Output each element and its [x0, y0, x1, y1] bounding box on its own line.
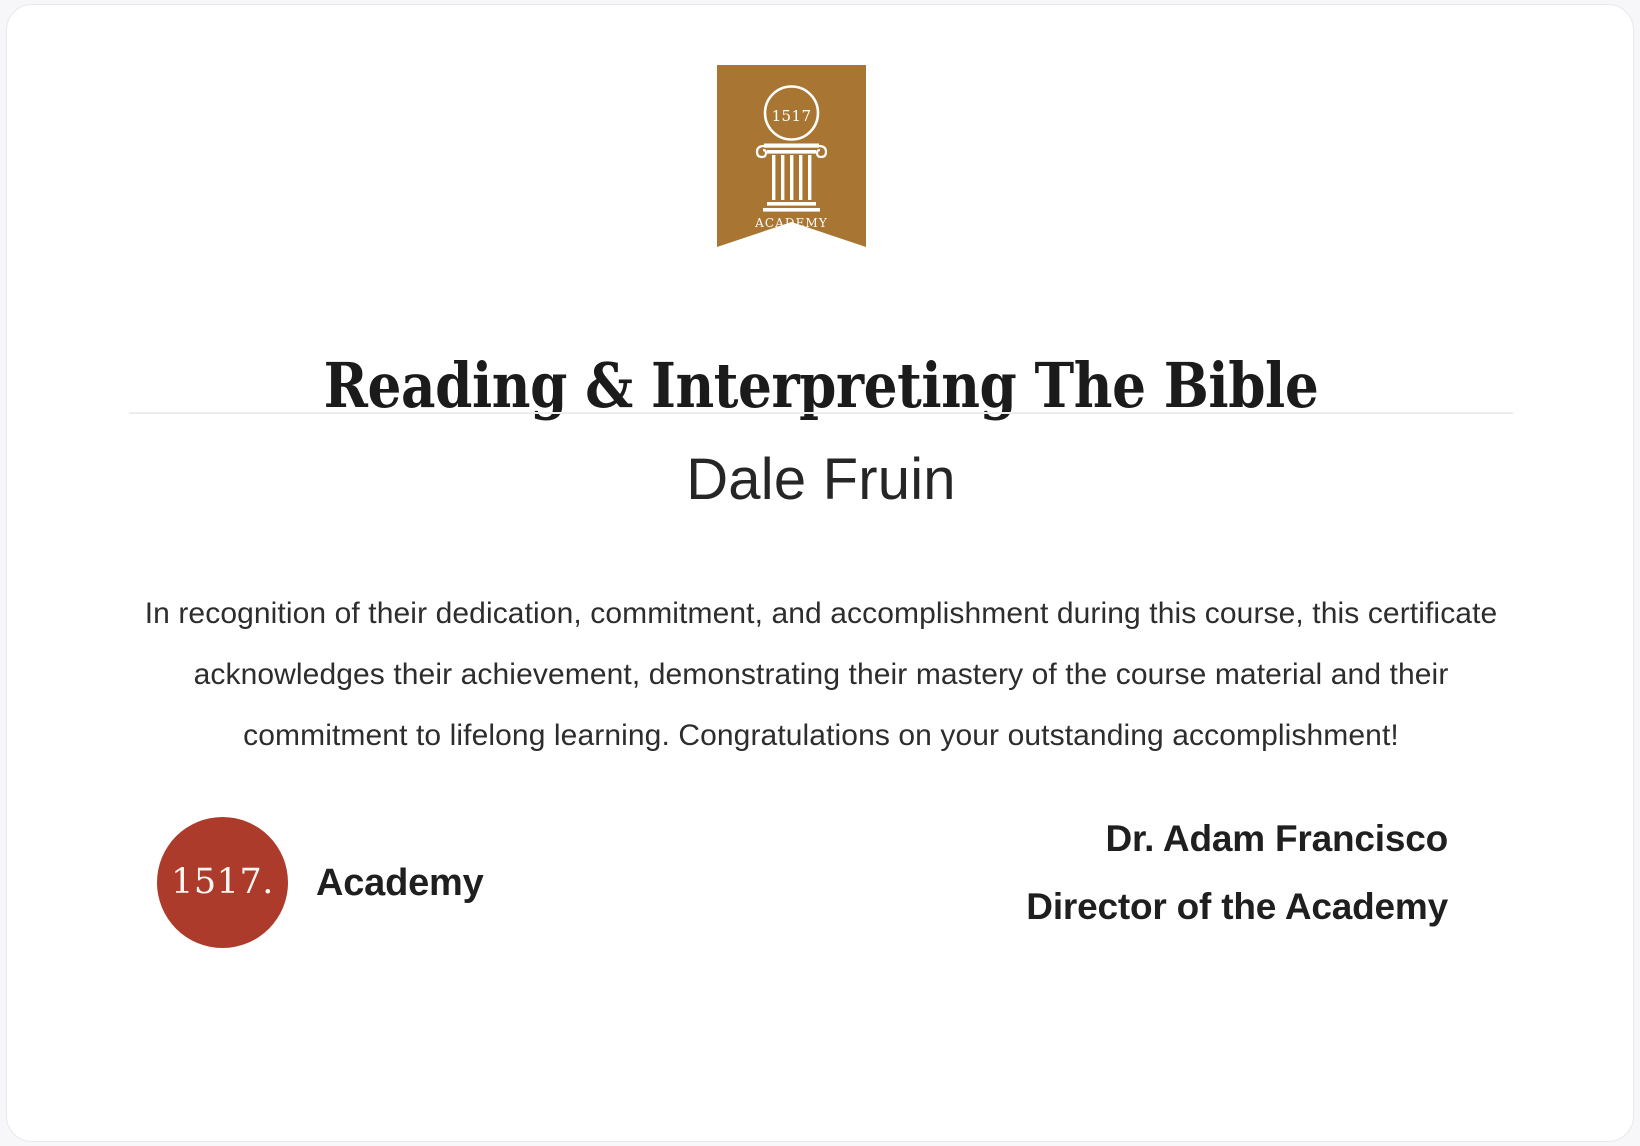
column-base-upper — [767, 202, 816, 206]
capital-band — [767, 150, 816, 154]
signatory-role: Director of the Academy — [1026, 873, 1448, 941]
column-flute — [781, 155, 784, 200]
signatory-name: Dr. Adam Francisco — [1026, 805, 1448, 873]
certificate-card: 1517 ACADEMY Reading & Interpreting The … — [6, 4, 1634, 1142]
certificate-body-text: In recognition of their dedication, comm… — [125, 583, 1517, 766]
academy-seal-text: 1517. — [171, 865, 274, 900]
academy-mark: 1517. Academy — [157, 817, 484, 948]
recipient-name: Dale Fruin — [7, 445, 1634, 515]
academy-label: Academy — [316, 864, 484, 902]
svg-text:ACADEMY: ACADEMY — [754, 216, 828, 230]
column-flute — [808, 155, 811, 200]
academy-seal-badge: 1517. — [157, 817, 288, 948]
column-base-lower — [763, 208, 820, 212]
column-flute — [799, 155, 802, 200]
column-flute — [790, 155, 793, 200]
signature-block: Dr. Adam Francisco Director of the Acade… — [1026, 805, 1448, 941]
column-flute — [772, 155, 775, 200]
title-divider — [129, 412, 1513, 414]
academy-banner-logo: 1517 ACADEMY — [717, 65, 866, 247]
svg-text:1517: 1517 — [772, 107, 812, 125]
capital-abacus — [764, 144, 819, 148]
